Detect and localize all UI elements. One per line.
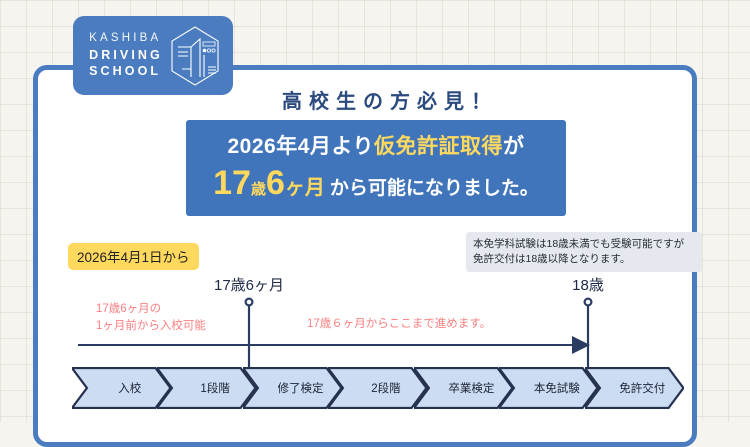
announcement-banner: 2026年4月より仮免許証取得が 17歳6ヶ月から可能になりました。: [186, 120, 566, 216]
timeline-note-left: 17歳6ヶ月の 1ヶ月前から入校可能: [96, 301, 206, 336]
logo-line-3: SCHOOL: [89, 63, 163, 80]
timeline-note-center: 17歳６ヶ月からここまで進めます。: [307, 316, 491, 333]
logo-wordmark: KASHIBA DRIVING SCHOOL: [85, 31, 163, 79]
banner-text-particle: が: [503, 135, 525, 158]
effective-date-badge: 2026年4月1日から: [68, 243, 199, 270]
timeline-note-left-line-2: 1ヶ月前から入校可能: [96, 318, 206, 335]
banner-tail-text: から可能になりました。: [330, 178, 539, 199]
exam-note-line-1: 本免学科試験は18歳未満でも受験可能ですが: [473, 237, 695, 252]
banner-month-unit: ヶ月: [285, 177, 325, 199]
step-label: 免許交付: [585, 367, 684, 409]
banner-age-unit: 歳: [251, 181, 266, 198]
logo-line-1: KASHIBA: [89, 31, 163, 46]
step-item[interactable]: 免許交付: [585, 367, 684, 409]
banner-month-number: 6: [266, 164, 285, 202]
banner-text-date: 2026年4月より: [228, 135, 374, 158]
process-steps: 入校 1段階 修了検定 2段階 卒業検定 本免試験 免許交付: [72, 367, 684, 409]
logo-line-2: DRIVING: [89, 47, 163, 64]
banner-line-2: 17歳6ヶ月から可能になりました。: [213, 166, 539, 200]
banner-age-number: 17: [213, 164, 251, 202]
school-logo: KASHIBA DRIVING SCHOOL: [73, 16, 233, 95]
timeline-note-left-line-1: 17歳6ヶ月の: [96, 301, 206, 318]
timeline-marker-label-left: 17歳6ヶ月: [214, 274, 284, 295]
hexagon-building-icon: [169, 25, 221, 87]
exam-note-line-2: 免許交付は18歳以降となります。: [473, 252, 695, 267]
timeline-marker-label-right: 18歳: [572, 274, 604, 295]
banner-text-highlight: 仮免許証取得: [374, 135, 503, 158]
exam-note-box: 本免学科試験は18歳未満でも受験可能ですが 免許交付は18歳以降となります。: [466, 232, 702, 272]
banner-line-1: 2026年4月より仮免許証取得が: [228, 136, 525, 157]
